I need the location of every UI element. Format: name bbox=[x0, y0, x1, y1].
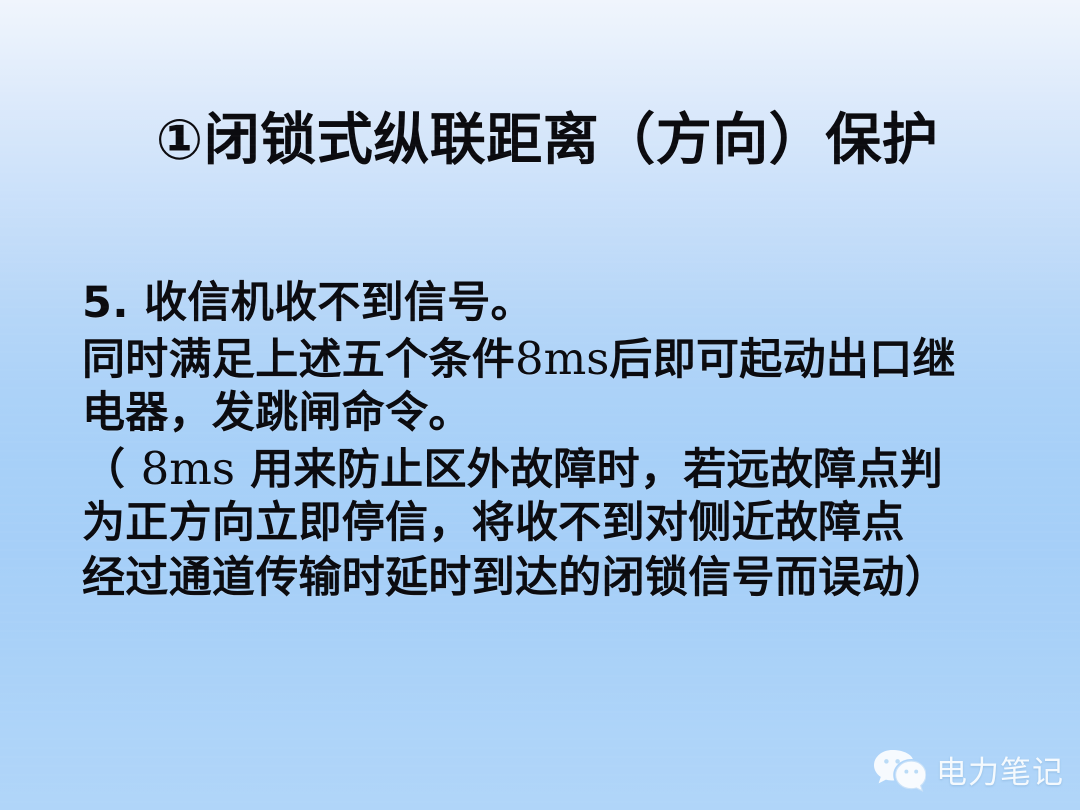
body-line-3-text: 电器，发跳闸命令。 bbox=[82, 388, 472, 438]
body-line-1: 5. 收信机收不到信号。 bbox=[82, 276, 1042, 331]
body-line-2-pre: 同时满足上述五个条件 bbox=[82, 335, 515, 385]
wechat-watermark: 电力笔记 bbox=[872, 747, 1064, 792]
body-line-2: 同时满足上述五个条件8ms后即可起动出口继 bbox=[82, 331, 1042, 386]
body-line-5: 为正方向立即停信，将收不到对侧近故障点 bbox=[82, 496, 1042, 551]
body-line-2-post: 后即可起动出口继 bbox=[609, 335, 955, 385]
body-line-5-text: 为正方向立即停信，将收不到对侧近故障点 bbox=[82, 498, 905, 548]
body-line-4-duration: 8ms bbox=[141, 442, 235, 495]
body-line-3: 电器，发跳闸命令。 bbox=[82, 386, 1042, 441]
body-line-2-duration: 8ms bbox=[515, 332, 609, 385]
slide-canvas: ①闭锁式纵联距离（方向）保护 5. 收信机收不到信号。 同时满足上述五个条件8m… bbox=[0, 0, 1080, 810]
body-line-4-post: 用来防止区外故障时，若远故障点判 bbox=[235, 445, 943, 495]
body-line-6: 经过通道传输时延时到达的闭锁信号而误动） bbox=[82, 551, 1042, 606]
wechat-icon bbox=[872, 748, 926, 792]
slide-body-text: 5. 收信机收不到信号。 同时满足上述五个条件8ms后即可起动出口继 电器，发跳… bbox=[82, 276, 1042, 606]
body-line-6-text: 经过通道传输时延时到达的闭锁信号而误动） bbox=[82, 553, 948, 603]
slide-title: ①闭锁式纵联距离（方向）保护 bbox=[0, 112, 1080, 170]
body-line-4: （ 8ms 用来防止区外故障时，若远故障点判 bbox=[82, 441, 1042, 496]
watermark-label: 电力笔记 bbox=[936, 747, 1064, 792]
body-line-4-pre: （ bbox=[82, 445, 141, 495]
body-line-1-text: 5. 收信机收不到信号。 bbox=[82, 278, 534, 328]
